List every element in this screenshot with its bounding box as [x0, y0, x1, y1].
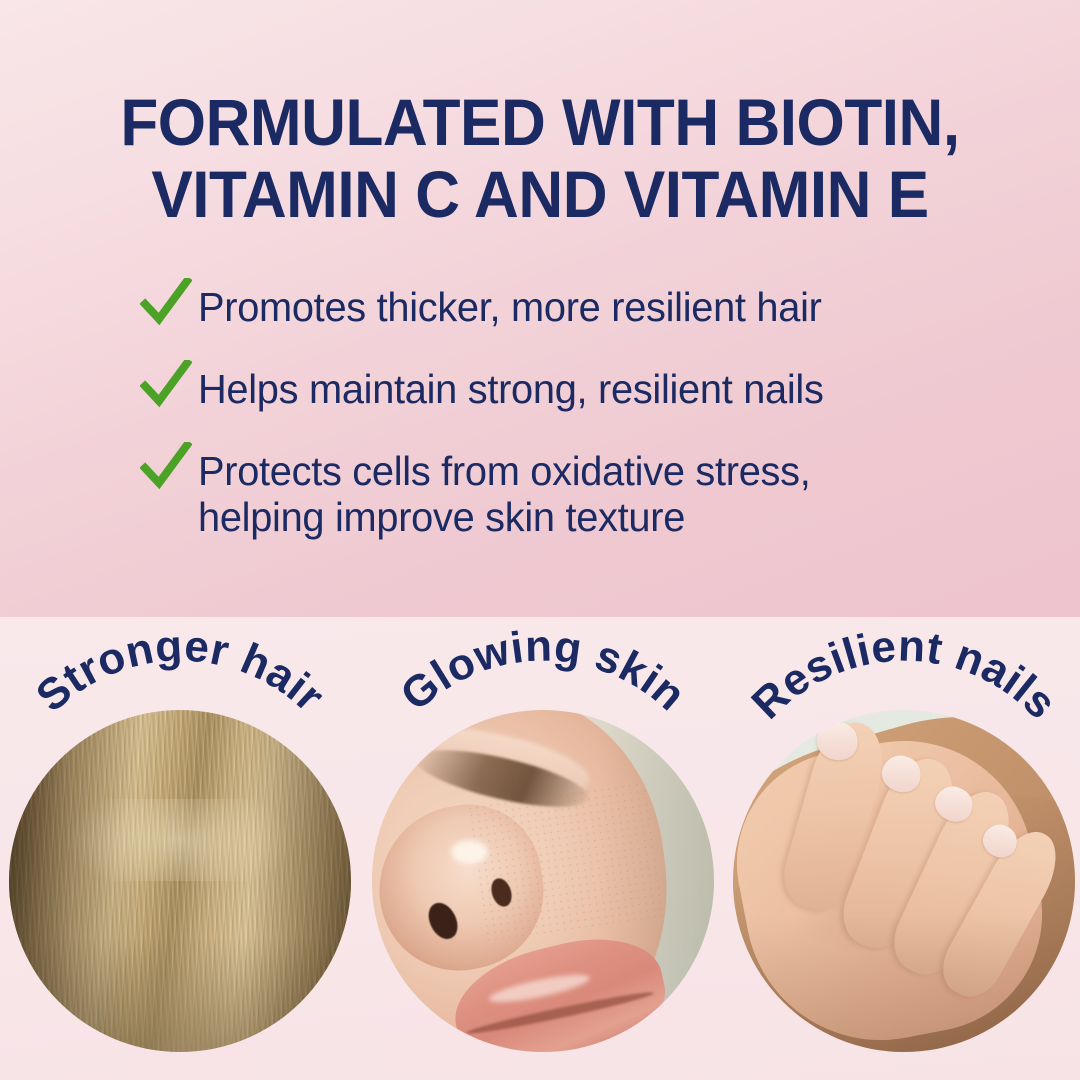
- benefit-card-hair: Stronger hair: [0, 617, 360, 1080]
- check-mark-icon: [140, 442, 192, 492]
- benefits-list: Promotes thicker, more resilient hair He…: [140, 282, 970, 540]
- list-item: Promotes thicker, more resilient hair: [140, 282, 970, 330]
- product-benefits-infographic: FORMULATED WITH BIOTIN, VITAMIN C AND VI…: [0, 0, 1080, 1080]
- list-item: Helps maintain strong, resilient nails: [140, 364, 970, 412]
- benefit-text: Helps maintain strong, resilient nails: [198, 364, 824, 412]
- hair-closeup-photo: [9, 710, 351, 1052]
- page-title: FORMULATED WITH BIOTIN, VITAMIN C AND VI…: [32, 86, 1047, 230]
- benefit-label-hair-text: Stronger hair: [27, 621, 334, 721]
- skin-artwork: [372, 710, 714, 1052]
- hair-artwork: [9, 710, 351, 1052]
- benefit-card-skin: Glowing skin: [363, 617, 723, 1080]
- benefit-text: Promotes thicker, more resilient hair: [198, 282, 822, 330]
- benefit-label-skin-text: Glowing skin: [392, 622, 695, 721]
- list-item: Protects cells from oxidative stress, he…: [140, 446, 970, 540]
- benefit-label-skin: Glowing skin: [392, 622, 695, 721]
- benefit-card-nails: Resilient nails: [724, 617, 1080, 1080]
- face-skin-closeup-photo: [372, 710, 714, 1052]
- check-mark-icon: [140, 278, 192, 328]
- check-mark-icon: [140, 360, 192, 410]
- nails-artwork: [733, 710, 1075, 1052]
- benefit-text: Protects cells from oxidative stress, he…: [198, 446, 810, 540]
- benefit-photos-panel: Stronger hair: [0, 617, 1080, 1080]
- hand-nails-closeup-photo: [733, 710, 1075, 1052]
- headline-panel: FORMULATED WITH BIOTIN, VITAMIN C AND VI…: [0, 0, 1080, 617]
- benefit-label-hair: Stronger hair: [27, 621, 334, 721]
